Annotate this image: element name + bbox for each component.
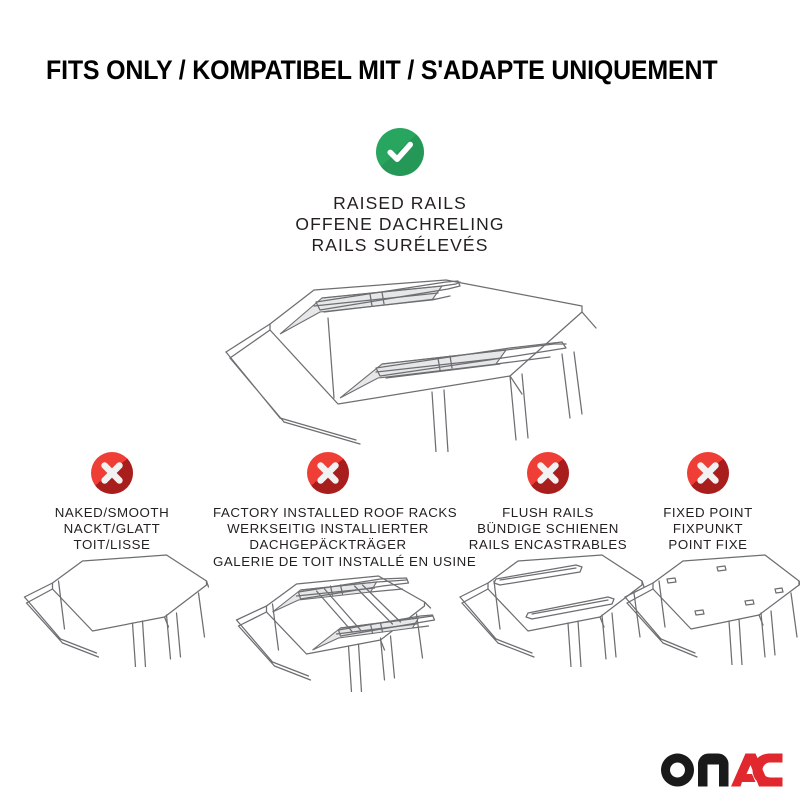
- label-line-2: BÜNDIGE SCHIENEN: [452, 521, 644, 537]
- x-circle-icon: [91, 452, 133, 494]
- car-roof-with-raised-rails-illustration: [210, 272, 600, 452]
- compatible-section: RAISED RAILS OFFENE DACHRELING RAILS SUR…: [0, 128, 800, 256]
- check-circle-icon: [376, 128, 424, 176]
- x-circle-icon: [687, 452, 729, 494]
- incompatible-label: FACTORY INSTALLED ROOF RACKS WERKSEITIG …: [213, 505, 443, 570]
- car-roof-naked-smooth-illustration: [15, 547, 210, 667]
- omac-logo: [659, 752, 783, 788]
- label-line-1: FLUSH RAILS: [452, 505, 644, 521]
- label-line-1: NAKED/SMOOTH: [13, 505, 211, 521]
- label-line-2: WERKSEITIG INSTALLIERTER: [213, 521, 443, 537]
- incompatible-item-factory-roof-rack: FACTORY INSTALLED ROOF RACKS WERKSEITIG …: [213, 452, 443, 570]
- car-roof-factory-roof-rack-illustration: [221, 562, 436, 692]
- compatible-label: RAISED RAILS OFFENE DACHRELING RAILS SUR…: [0, 193, 800, 256]
- label-line-3: DACHGEPÄCKTRÄGER: [213, 537, 443, 553]
- label-line-1: FACTORY INSTALLED ROOF RACKS: [213, 505, 443, 521]
- compatible-label-line-2: OFFENE DACHRELING: [0, 214, 800, 235]
- label-line-2: FIXPUNKT: [635, 521, 781, 537]
- compatible-label-line-1: RAISED RAILS: [0, 193, 800, 214]
- x-circle-icon: [307, 452, 349, 494]
- incompatible-item-flush-rails: FLUSH RAILS BÜNDIGE SCHIENEN RAILS ENCAS…: [452, 452, 644, 554]
- incompatible-item-fixed-point: FIXED POINT FIXPUNKT POINT FIXE: [635, 452, 781, 554]
- label-line-2: NACKT/GLATT: [13, 521, 211, 537]
- car-roof-fixed-point-illustration: [613, 545, 800, 665]
- x-circle-icon: [527, 452, 569, 494]
- incompatible-item-naked-smooth: NAKED/SMOOTH NACKT/GLATT TOIT/LISSE: [13, 452, 211, 554]
- label-line-1: FIXED POINT: [635, 505, 781, 521]
- page-title: FITS ONLY / KOMPATIBEL MIT / S'ADAPTE UN…: [46, 55, 717, 86]
- compatible-label-line-3: RAILS SURÉLEVÉS: [0, 235, 800, 256]
